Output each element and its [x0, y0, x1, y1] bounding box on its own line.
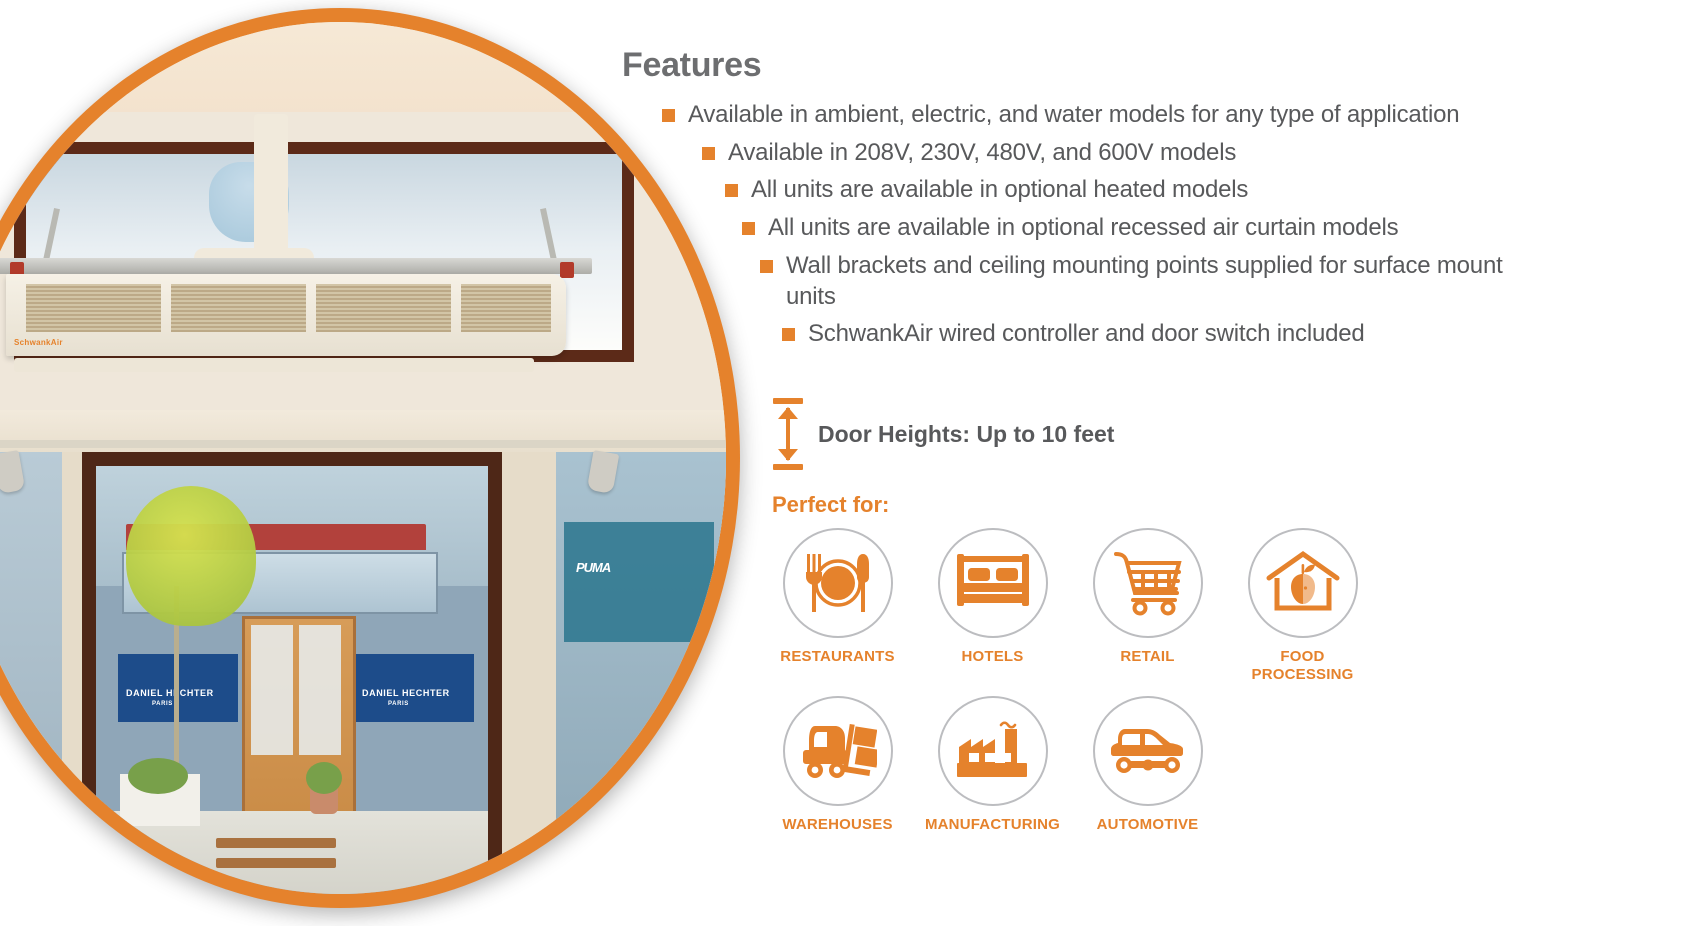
bullet-square-icon [725, 184, 738, 197]
application-label: RESTAURANTS [780, 648, 894, 666]
exterior-tree-canopy [126, 486, 256, 626]
unit-grille-4 [461, 284, 551, 332]
application-retail[interactable]: RETAIL [1070, 528, 1225, 683]
list-item-label: Wall brackets and ceiling mounting point… [786, 251, 1526, 312]
application-automotive[interactable]: AUTOMOTIVE [1070, 696, 1225, 834]
exterior-topiary [306, 762, 342, 794]
bullet-square-icon [760, 260, 773, 273]
exterior-sign-right-sub: PARIS [388, 701, 409, 707]
list-item-label: All units are available in optional heat… [751, 175, 1248, 206]
application-food-processing[interactable]: FOODPROCESSING [1225, 528, 1380, 683]
perfect-for-label: Perfect for: [772, 492, 889, 518]
factory-icon [938, 696, 1048, 806]
bullet-square-icon [742, 222, 755, 235]
unit-grille-1 [26, 284, 161, 332]
application-warehouses[interactable]: WAREHOUSES [760, 696, 915, 834]
scene-duct-vertical [254, 114, 288, 264]
slide-root: SchwankAir PUMA [0, 0, 1696, 926]
car-icon [1093, 696, 1203, 806]
hotel-bed-icon [938, 528, 1048, 638]
shopping-cart-icon [1093, 528, 1203, 638]
list-item: SchwankAir wired controller and door swi… [782, 319, 1696, 350]
list-item-label: Available in ambient, electric, and wate… [688, 100, 1459, 131]
exterior-bench-seat [216, 838, 336, 848]
application-restaurants[interactable]: RESTAURANTS [760, 528, 915, 683]
list-item-label: All units are available in optional rece… [768, 213, 1398, 244]
page-title: Features [622, 46, 761, 85]
door-height-arrow-icon [772, 398, 806, 470]
photo-clip: SchwankAir PUMA [0, 22, 726, 894]
application-label: WAREHOUSES [782, 816, 892, 834]
list-item: All units are available in optional rece… [742, 213, 1696, 244]
list-item: All units are available in optional heat… [725, 175, 1696, 206]
list-item: Available in ambient, electric, and wate… [662, 100, 1696, 131]
scene-pillar-right [502, 452, 556, 894]
scene-entry-door-frame: DANIEL HECHTER PARIS DANIEL HECHTER PARI… [82, 452, 502, 894]
exterior-bush-left [128, 758, 188, 794]
application-label: MANUFACTURING [925, 816, 1060, 834]
scene-ceiling-track [0, 440, 726, 448]
application-label: HOTELS [961, 648, 1023, 666]
scene-mounting-rail [0, 258, 592, 274]
application-icon-row-2: WAREHOUSES [760, 696, 1225, 834]
door-height-callout: Door Heights: Up to 10 feet [772, 398, 1114, 470]
application-label: FOODPROCESSING [1251, 648, 1353, 683]
schwankair-brand-mark: SchwankAir [14, 338, 63, 347]
unit-discharge-lip [14, 358, 534, 372]
unit-grille-3 [316, 284, 451, 332]
list-item: Available in 208V, 230V, 480V, and 600V … [702, 138, 1696, 169]
forklift-icon [783, 696, 893, 806]
exterior-sign-right-text: DANIEL HECHTER [362, 688, 450, 698]
exterior-sign-right: DANIEL HECHTER PARIS [354, 654, 474, 722]
features-panel: Features Available in ambient, electric,… [620, 0, 1696, 926]
list-item-label: SchwankAir wired controller and door swi… [808, 319, 1365, 350]
bullet-square-icon [702, 147, 715, 160]
exterior-wood-doors [242, 616, 356, 837]
bullet-square-icon [782, 328, 795, 341]
scene-entry-door-glass: DANIEL HECHTER PARIS DANIEL HECHTER PARI… [96, 466, 488, 894]
application-label: AUTOMOTIVE [1097, 816, 1199, 834]
application-hotels[interactable]: HOTELS [915, 528, 1070, 683]
features-bullet-list: Available in ambient, electric, and wate… [620, 100, 1696, 357]
photo-scene: SchwankAir PUMA [0, 22, 726, 894]
exterior-sign-left-sub: PARIS [152, 701, 173, 707]
application-manufacturing[interactable]: MANUFACTURING [915, 696, 1070, 834]
scene-rail-cap-right [560, 262, 574, 278]
air-curtain-unit [6, 274, 566, 356]
exterior-bench-slat [216, 858, 336, 868]
bullet-square-icon [662, 109, 675, 122]
application-label: RETAIL [1120, 648, 1174, 666]
unit-grille-2 [171, 284, 306, 332]
application-icon-row-1: RESTAURANTS [760, 528, 1380, 683]
restaurant-icon [783, 528, 893, 638]
food-processing-icon [1248, 528, 1358, 638]
list-item-label: Available in 208V, 230V, 480V, and 600V … [728, 138, 1236, 169]
neighbor-store-sign: PUMA [576, 560, 610, 575]
scene-ceiling [0, 22, 726, 117]
exterior-sign-left-text: DANIEL HECHTER [126, 688, 214, 698]
list-item: Wall brackets and ceiling mounting point… [760, 251, 1560, 312]
door-height-label: Door Heights: Up to 10 feet [818, 421, 1114, 448]
